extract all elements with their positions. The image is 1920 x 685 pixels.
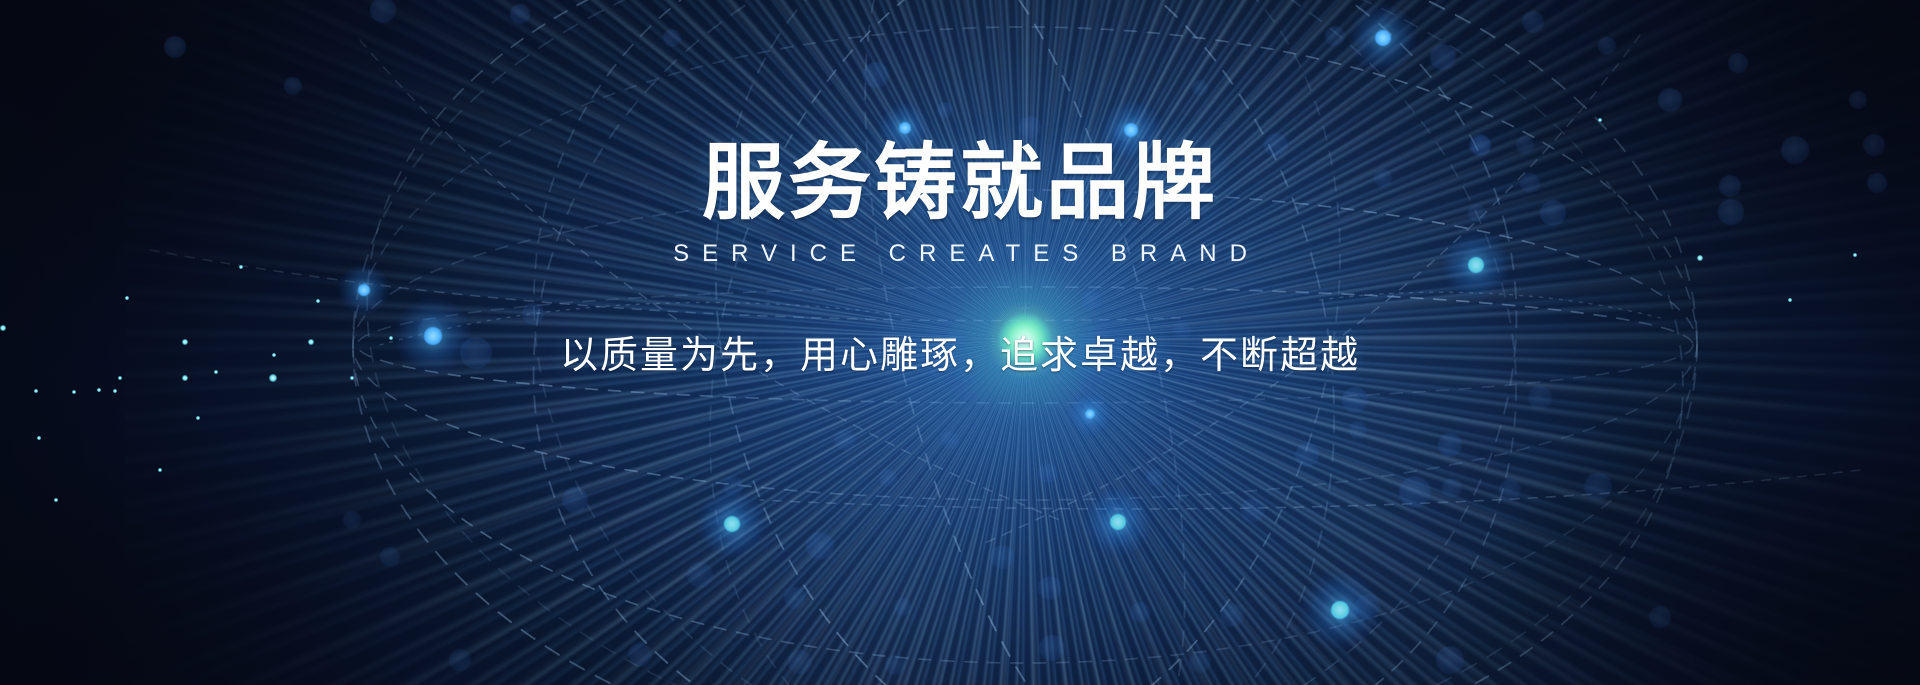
page-title: 服务铸就品牌	[702, 0, 1218, 226]
page-subtitle: SERVICE CREATES BRAND	[660, 240, 1260, 268]
page-tagline: 以质量为先，用心雕琢，追求卓越，不断超越	[560, 324, 1360, 379]
banner-content: 服务铸就品牌 SERVICE CREATES BRAND 以质量为先，用心雕琢，…	[0, 0, 1920, 685]
hero-banner: 服务铸就品牌 SERVICE CREATES BRAND 以质量为先，用心雕琢，…	[0, 0, 1920, 685]
